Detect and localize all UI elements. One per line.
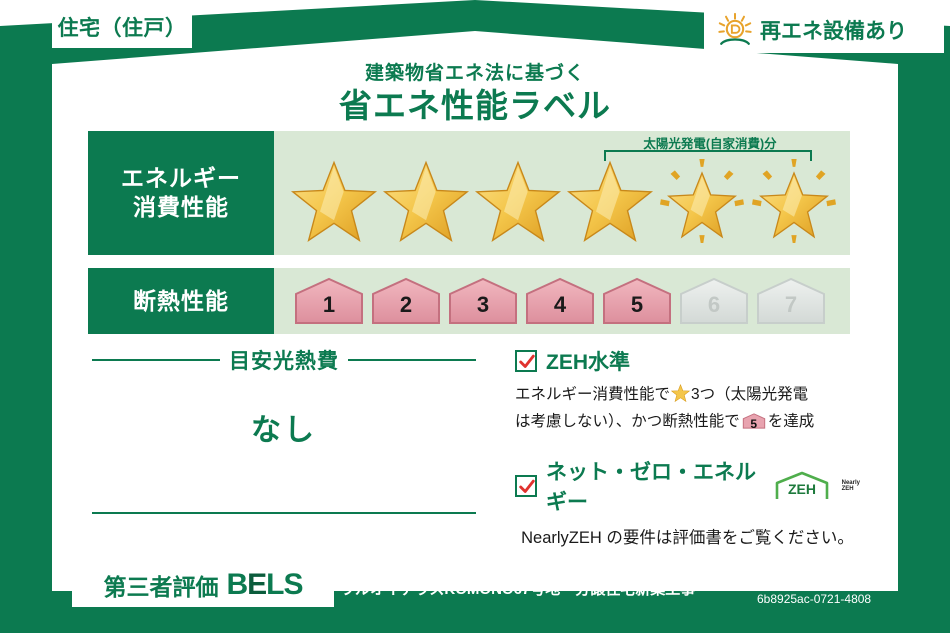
star-icon-3 (472, 157, 564, 245)
insulation-level-6: 6 (677, 276, 751, 326)
zeh-netzero-block: ネット・ゼロ・エネルギー ZEH Nearly ZEH NearlyZEH の要… (515, 456, 860, 548)
insulation-level-1-number: 1 (292, 292, 366, 318)
insulation-level-5: 5 (600, 276, 674, 326)
star-icon-2 (380, 157, 472, 245)
building-type-label: 住宅（住戸） (58, 12, 187, 42)
energy-consumption-row: エネルギー 消費性能 太陽光発電(自家消費)分 (88, 131, 850, 255)
zeh-section: ZEH水準 エネルギー消費性能で 3つ（太陽光発電 は考慮しない）、かつ断熱性能… (515, 346, 860, 548)
zeh-logo-caption: Nearly ZEH (842, 480, 860, 493)
zeh-desc-part1: エネルギー消費性能で (515, 386, 670, 403)
bels-letter-e: E (247, 568, 266, 601)
star-icon-4 (564, 157, 656, 245)
label-title: 省エネ性能ラベル (0, 79, 950, 127)
zeh-standard-description: エネルギー消費性能で 3つ（太陽光発電 は考慮しない）、かつ断熱性能で 5 を達… (515, 383, 860, 434)
energy-performance-label: 住宅（住戸） 再エネ設備あり 建築物省エネ法に基づく 省エ (0, 0, 950, 633)
svg-text:ZEH: ZEH (788, 481, 816, 497)
bels-logo-box: 第三者評価 BELS (72, 563, 334, 607)
star-icon-1 (288, 157, 380, 245)
bels-jp-label: 第三者評価 (103, 568, 218, 602)
zeh-standard-checkbox[interactable] (515, 350, 537, 372)
renewable-equipment-label: 再エネ設備あり (760, 15, 907, 45)
zeh-logo-caption-line1: Nearly (842, 480, 860, 486)
utility-cost-heading: 目安光熱費 (92, 345, 476, 375)
zeh-netzero-note: NearlyZEH の要件は評価書をご覧ください。 (515, 524, 860, 548)
insulation-row-label: 断熱性能 (88, 268, 274, 334)
inline-star-icon (671, 384, 690, 410)
zeh-desc-part4: を達成 (768, 413, 815, 430)
zeh-logo-caption-line2: ZEH (842, 486, 854, 492)
energy-label-line2: 消費性能 (133, 193, 229, 222)
utility-cost-bottom-rule (92, 512, 476, 514)
evaluation-id: 6b8925ac-0721-4808 (757, 592, 871, 606)
insulation-level-2: 2 (369, 276, 443, 326)
inline-house-number: 5 (742, 415, 766, 434)
zeh-desc-part2: 3つ（太陽光発電 (691, 386, 808, 403)
zeh-logo-icon: ZEH (773, 471, 831, 501)
building-type-badge: 住宅（住戸） (52, 6, 192, 48)
insulation-level-4-number: 4 (523, 292, 597, 318)
star-icon-solar-5 (656, 157, 748, 245)
insulation-level-7-number: 7 (754, 292, 828, 318)
bels-letter-b: B (226, 568, 247, 601)
renewable-equipment-badge: 再エネ設備あり (704, 6, 944, 53)
insulation-level-5-number: 5 (600, 292, 674, 318)
evaluation-date: 評価日 2025年2月19日 (700, 567, 863, 591)
insulation-level-6-number: 6 (677, 292, 751, 318)
zeh-desc-part3: は考慮しない）、かつ断熱性能で (515, 413, 740, 430)
zeh-netzero-title: ネット・ゼロ・エネルギー (546, 456, 764, 516)
zeh-standard-line: ZEH水準 (515, 346, 860, 376)
insulation-level-3: 3 (446, 276, 520, 326)
heading-rule-left (92, 359, 220, 361)
zeh-netzero-line: ネット・ゼロ・エネルギー ZEH Nearly ZEH (515, 456, 860, 516)
property-name: ウルオイテラスKOMONO67号地 分譲住宅新築工事 (340, 578, 695, 599)
energy-consumption-row-label: エネルギー 消費性能 (88, 131, 274, 255)
insulation-level-2-number: 2 (369, 292, 443, 318)
energy-star-rating (288, 157, 840, 245)
inline-house-icon: 5 (742, 412, 766, 430)
insulation-row-body: 1 2 3 4 (274, 268, 850, 334)
utility-cost-value: なし (92, 405, 476, 449)
insulation-level-7: 7 (754, 276, 828, 326)
insulation-level-4: 4 (523, 276, 597, 326)
star-icon-solar-6 (748, 157, 840, 245)
heading-rule-right (348, 359, 476, 361)
insulation-level-3-number: 3 (446, 292, 520, 318)
utility-cost-heading-text: 目安光熱費 (229, 345, 339, 375)
bels-en-label: BELS (226, 568, 302, 602)
insulation-label-text: 断熱性能 (133, 287, 229, 316)
energy-consumption-row-body: 太陽光発電(自家消費)分 (274, 131, 850, 255)
insulation-level-1: 1 (292, 276, 366, 326)
insulation-performance-row: 断熱性能 1 (88, 268, 850, 334)
energy-label-line1: エネルギー (121, 164, 241, 193)
zeh-standard-title: ZEH水準 (546, 346, 630, 376)
zeh-netzero-checkbox[interactable] (515, 475, 537, 497)
bels-letters-ls: LS (266, 568, 302, 601)
solar-sun-icon (716, 11, 754, 49)
